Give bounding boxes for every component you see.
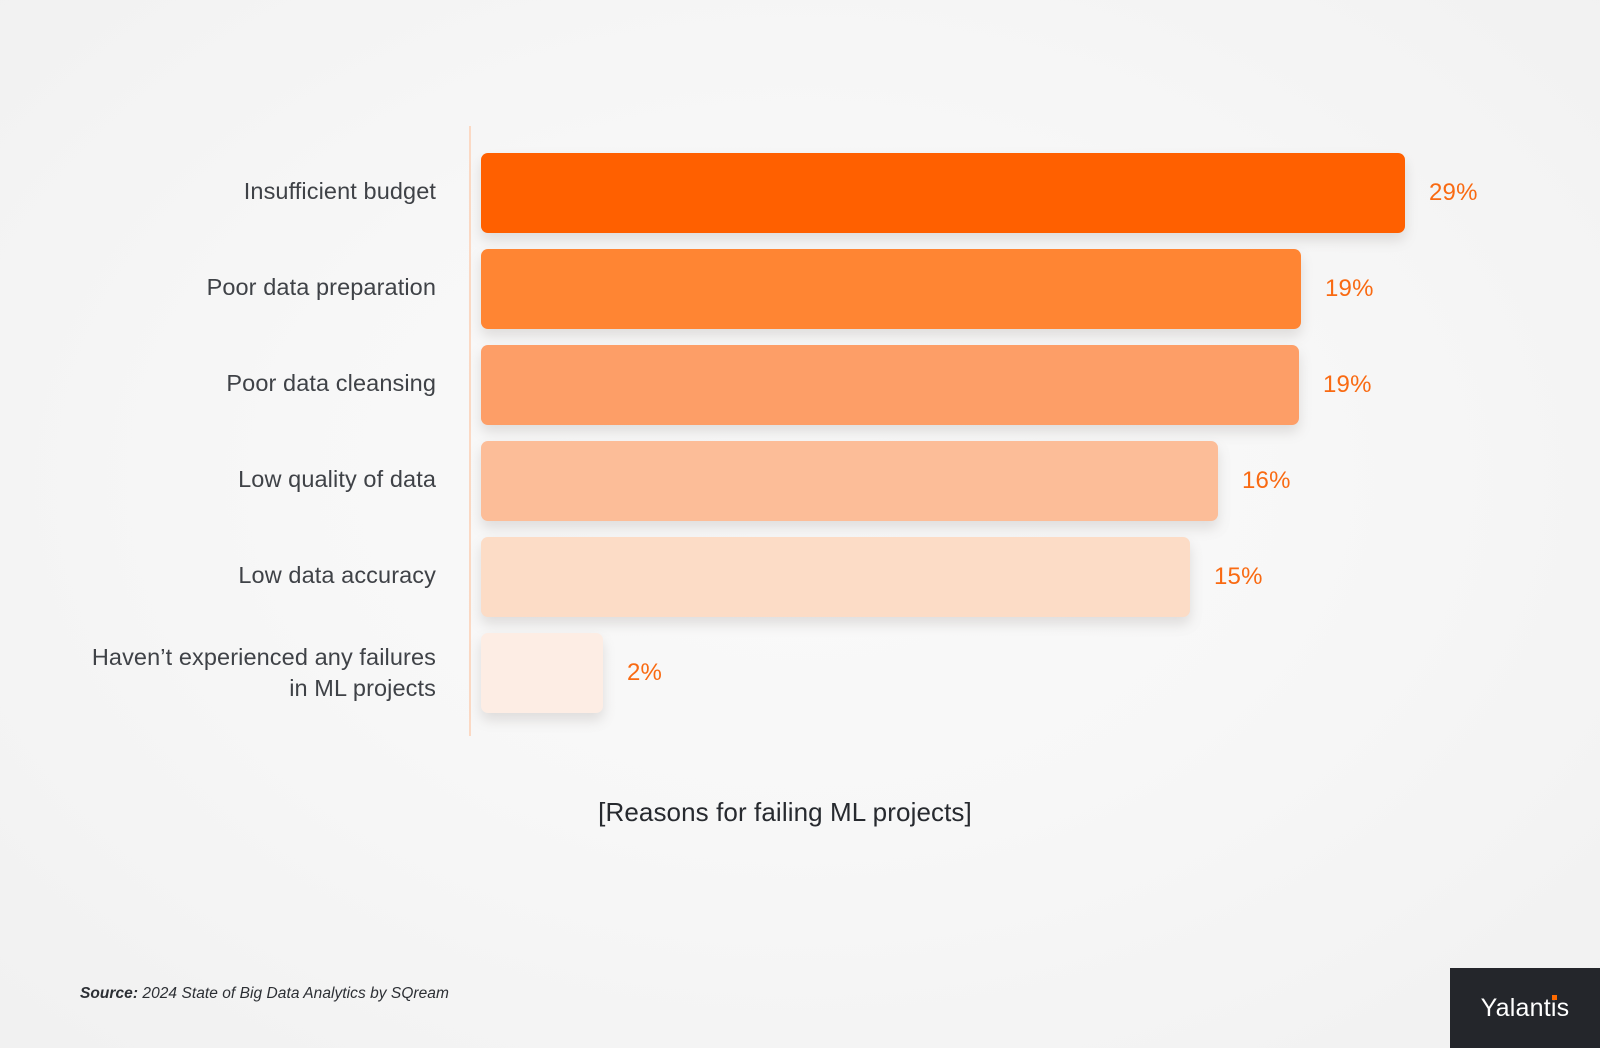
bar-row: Poor data preparation 19%	[0, 241, 1600, 337]
bar-4[interactable]	[481, 537, 1190, 617]
category-label-5: Haven’t experienced any failures in ML p…	[40, 642, 436, 705]
category-label-4: Low data accuracy	[40, 560, 436, 591]
bar-row: Low quality of data 16%	[0, 433, 1600, 529]
bar-2[interactable]	[481, 345, 1299, 425]
value-label-5: 2%	[627, 659, 662, 687]
brand-accent-dot-icon	[1552, 995, 1557, 1000]
bar-5[interactable]	[481, 633, 603, 713]
bar-3[interactable]	[481, 441, 1218, 521]
category-label-2: Poor data cleansing	[40, 368, 436, 399]
category-label-0: Insufficient budget	[40, 176, 436, 207]
bar-row: Low data accuracy 15%	[0, 529, 1600, 625]
category-label-1: Poor data preparation	[40, 272, 436, 303]
bar-row: Poor data cleansing 19%	[0, 337, 1600, 433]
category-label-3: Low quality of data	[40, 464, 436, 495]
value-label-0: 29%	[1429, 179, 1478, 207]
yalantis-logo-badge[interactable]: Yalantis	[1450, 968, 1600, 1048]
bar-container-0: 29%	[481, 153, 1405, 233]
value-label-3: 16%	[1242, 467, 1291, 495]
source-label: Source:	[80, 985, 138, 1002]
chart-canvas: Insufficient budget 29% Poor data prepar…	[0, 0, 1600, 1048]
chart-title: [Reasons for failing ML projects]	[0, 797, 1570, 828]
brand-name: Yalantis	[1481, 994, 1570, 1023]
bar-0[interactable]	[481, 153, 1405, 233]
value-label-2: 19%	[1323, 371, 1372, 399]
source-note: Source: 2024 State of Big Data Analytics…	[80, 985, 449, 1003]
bar-row: Insufficient budget 29%	[0, 145, 1600, 241]
source-value: 2024 State of Big Data Analytics by SQre…	[138, 985, 449, 1002]
bar-1[interactable]	[481, 249, 1301, 329]
bar-row: Haven’t experienced any failures in ML p…	[0, 625, 1600, 721]
bar-container-5: 2%	[481, 633, 603, 713]
bar-container-2: 19%	[481, 345, 1299, 425]
bar-container-4: 15%	[481, 537, 1190, 617]
bar-container-1: 19%	[481, 249, 1301, 329]
value-label-1: 19%	[1325, 275, 1374, 303]
bar-container-3: 16%	[481, 441, 1218, 521]
value-label-4: 15%	[1214, 563, 1263, 591]
bar-chart-plot: Insufficient budget 29% Poor data prepar…	[0, 0, 1600, 760]
